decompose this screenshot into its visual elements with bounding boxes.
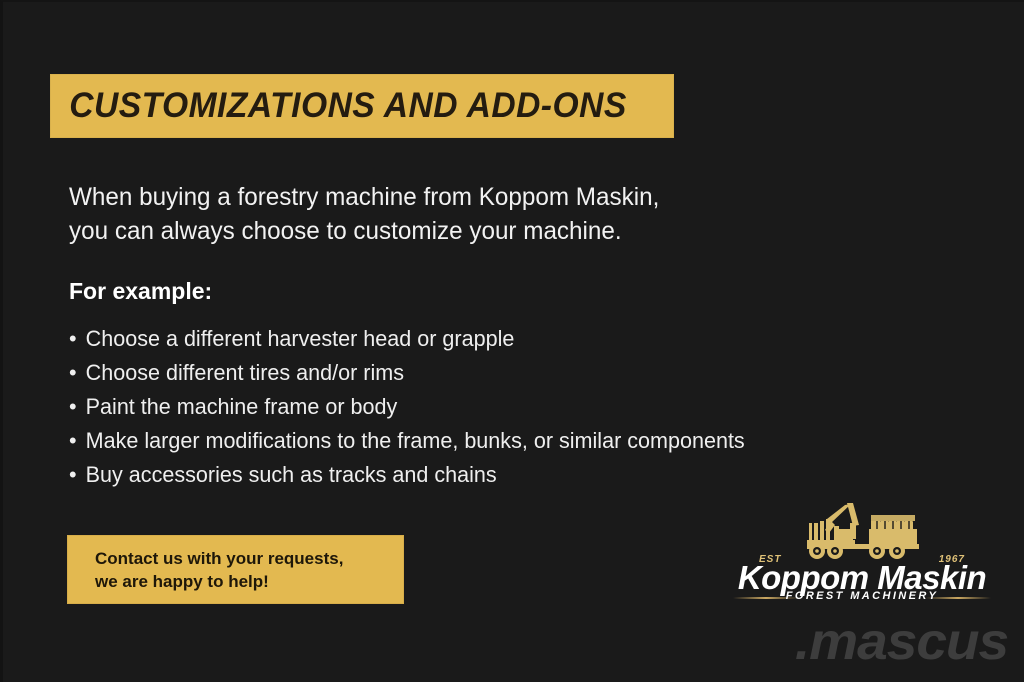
mascus-watermark: .mascus [795, 616, 1008, 668]
list-item: • Make larger modifications to the frame… [69, 424, 892, 458]
koppom-maskin-logo: EST 1967 Koppom Maskin FOREST MACHINERY [729, 499, 995, 611]
for-example-label: For example: [69, 278, 212, 305]
bullet-icon: • [69, 458, 77, 492]
list-item-label: Buy accessories such as tracks and chain… [86, 462, 497, 487]
list-item: • Paint the machine frame or body [69, 390, 892, 424]
bullet-icon: • [69, 424, 77, 458]
list-item-label: Choose different tires and/or rims [86, 360, 404, 385]
logo-tagline: FOREST MACHINERY [729, 590, 995, 602]
list-item-label: Choose a different harvester head or gra… [86, 326, 515, 351]
intro-line-2: you can always choose to customize your … [69, 214, 767, 248]
bullet-icon: • [69, 356, 77, 390]
list-item-label: Make larger modifications to the frame, … [86, 428, 745, 453]
list-item: • Choose different tires and/or rims [69, 356, 892, 390]
bullet-icon: • [69, 322, 77, 356]
intro-paragraph: When buying a forestry machine from Kopp… [69, 180, 767, 248]
list-item: • Buy accessories such as tracks and cha… [69, 458, 892, 492]
customization-options-list: • Choose a different harvester head or g… [69, 322, 909, 492]
page-title: CUSTOMIZATIONS AND ADD-ONS [50, 86, 627, 126]
list-item: • Choose a different harvester head or g… [69, 322, 892, 356]
contact-line-2: we are happy to help! [95, 570, 404, 593]
forwarder-machine-icon [787, 499, 937, 559]
list-item-label: Paint the machine frame or body [86, 394, 398, 419]
header-banner: CUSTOMIZATIONS AND ADD-ONS [50, 74, 674, 138]
contact-cta-box[interactable]: Contact us with your requests, we are ha… [67, 535, 404, 604]
bullet-icon: • [69, 390, 77, 424]
promo-slide: CUSTOMIZATIONS AND ADD-ONS When buying a… [0, 0, 1024, 682]
contact-line-1: Contact us with your requests, [95, 547, 404, 570]
intro-line-1: When buying a forestry machine from Kopp… [69, 180, 767, 214]
